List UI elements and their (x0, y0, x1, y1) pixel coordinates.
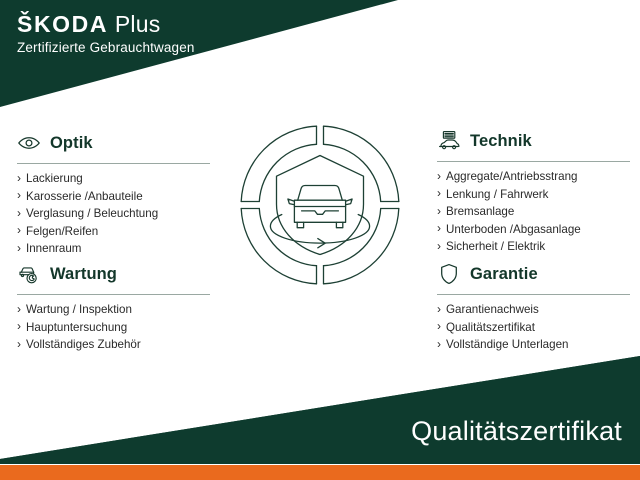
list-item: Lenkung / Fahrwerk (437, 186, 637, 204)
emblem-inner-ring (259, 144, 380, 265)
section-garantie-header: Garantie (437, 261, 637, 287)
list-item: Felgen/Reifen (17, 223, 217, 241)
section-technik-divider (437, 161, 630, 162)
section-technik: Technik Aggregate/Antriebsstrang Lenkung… (437, 128, 637, 256)
section-wartung: Wartung Wartung / Inspektion Hauptunters… (17, 261, 217, 354)
car-service-icon (17, 262, 41, 286)
list-item: Verglasung / Beleuchtung (17, 205, 217, 223)
emblem-spokes (241, 126, 399, 284)
section-wartung-title: Wartung (50, 265, 117, 284)
section-technik-header: Technik (437, 128, 637, 154)
quality-certificate-page: ŠKODA Plus Zertifizierte Gebrauchtwagen … (0, 0, 640, 480)
list-item: Aggregate/Antriebsstrang (437, 168, 637, 186)
orange-accent-bar (0, 465, 640, 480)
section-wartung-divider (17, 294, 210, 295)
emblem-orbit (270, 215, 369, 244)
emblem-outer-ring (241, 126, 399, 284)
section-garantie-list: Garantienachweis Qualitätszertifikat Vol… (437, 301, 637, 354)
logo-primary-line: ŠKODA Plus (17, 12, 195, 36)
list-item: Lackierung (17, 170, 217, 188)
section-garantie: Garantie Garantienachweis Qualitätszerti… (437, 261, 637, 354)
list-item: Sicherheit / Elektrik (437, 238, 637, 256)
list-item: Innenraum (17, 240, 217, 258)
section-optik-list: Lackierung Karosserie /Anbauteile Vergla… (17, 170, 217, 258)
list-item: Wartung / Inspektion (17, 301, 217, 319)
list-item: Garantienachweis (437, 301, 637, 319)
logo-brand-suffix: Plus (115, 11, 161, 37)
section-optik-header: Optik (17, 130, 217, 156)
section-optik: Optik Lackierung Karosserie /Anbauteile … (17, 130, 217, 258)
emblem-car (288, 186, 352, 228)
list-item: Vollständiges Zubehör (17, 336, 217, 354)
car-in-shield-emblem (235, 120, 405, 290)
section-technik-title: Technik (470, 132, 532, 151)
brand-logo: ŠKODA Plus Zertifizierte Gebrauchtwagen (17, 12, 195, 55)
logo-brand-name: ŠKODA (17, 11, 108, 37)
eye-icon (17, 131, 41, 155)
list-item: Karosserie /Anbauteile (17, 188, 217, 206)
section-garantie-title: Garantie (470, 265, 538, 284)
logo-tagline: Zertifizierte Gebrauchtwagen (17, 41, 195, 55)
section-optik-divider (17, 163, 210, 164)
section-optik-title: Optik (50, 134, 93, 153)
shield-icon (437, 262, 461, 286)
list-item: Vollständige Unterlagen (437, 336, 637, 354)
section-technik-list: Aggregate/Antriebsstrang Lenkung / Fahrw… (437, 168, 637, 256)
section-wartung-header: Wartung (17, 261, 217, 287)
list-item: Bremsanlage (437, 203, 637, 221)
section-garantie-divider (437, 294, 630, 295)
footer-title: Qualitätszertifikat (411, 416, 622, 447)
list-item: Unterboden /Abgasanlage (437, 221, 637, 239)
car-lift-icon (437, 129, 461, 153)
list-item: Qualitätszertifikat (437, 319, 637, 337)
section-wartung-list: Wartung / Inspektion Hauptuntersuchung V… (17, 301, 217, 354)
list-item: Hauptuntersuchung (17, 319, 217, 337)
footer-green-diagonal (0, 356, 640, 464)
